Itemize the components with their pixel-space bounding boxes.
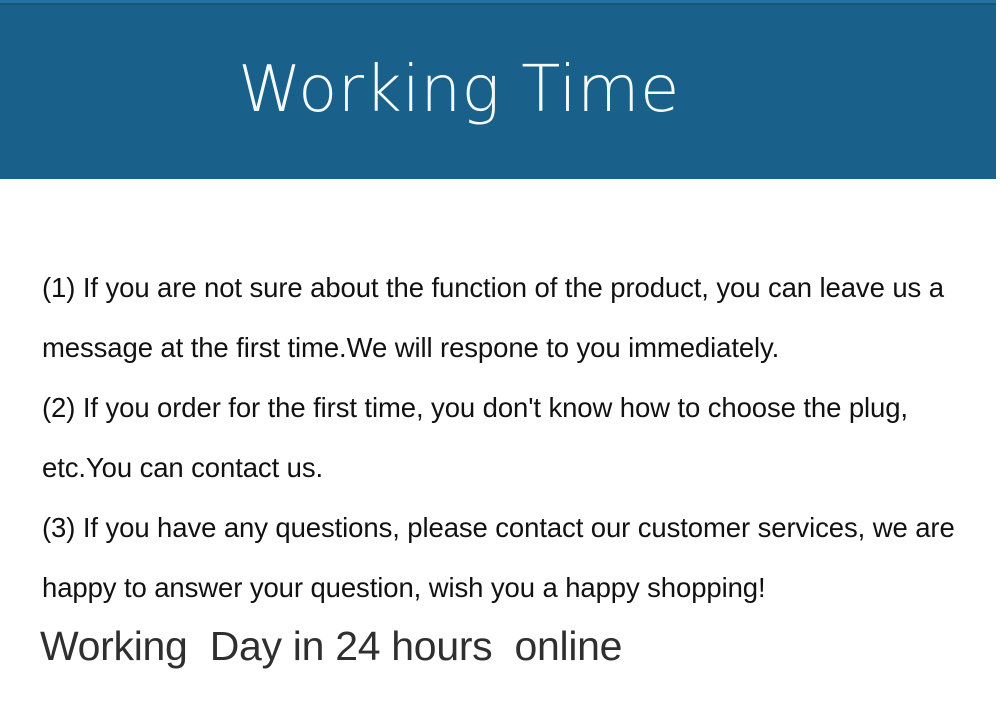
header-banner: Working Time xyxy=(0,0,996,179)
paragraph-3-line-1: (3) If you have any questions, please co… xyxy=(42,498,972,558)
page-title: Working Time xyxy=(0,0,996,179)
working-time-page: Working Time (1) If you are not sure abo… xyxy=(0,0,1000,724)
working-hours-tagline: Working Day in 24 hours online xyxy=(40,618,622,674)
paragraph-2-line-2: etc.You can contact us. xyxy=(42,438,972,498)
paragraph-1-line-1: (1) If you are not sure about the functi… xyxy=(42,258,972,318)
paragraph-1-line-2: message at the first time.We will respon… xyxy=(42,318,972,378)
paragraph-2-line-1: (2) If you order for the first time, you… xyxy=(42,378,972,438)
body-content: (1) If you are not sure about the functi… xyxy=(42,258,972,618)
paragraph-3-line-2: happy to answer your question, wish you … xyxy=(42,558,972,618)
